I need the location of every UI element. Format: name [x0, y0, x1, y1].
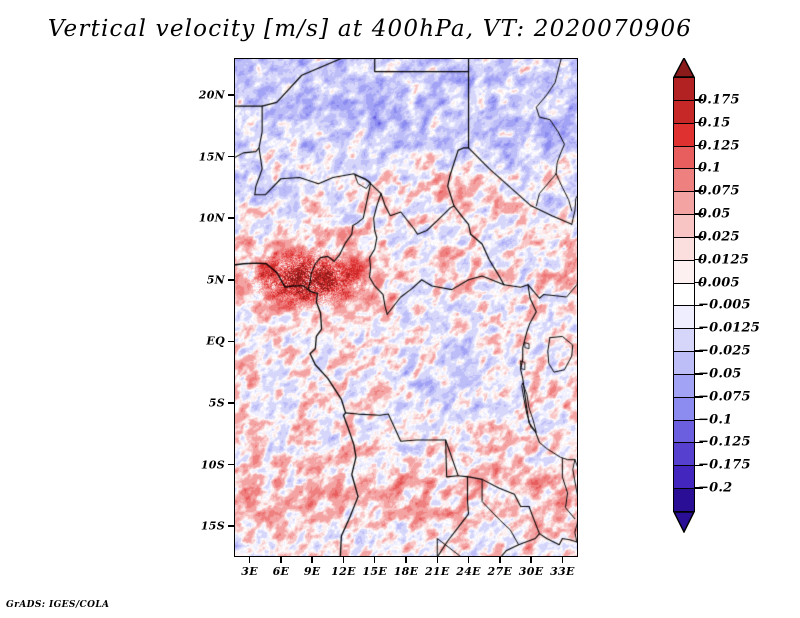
- longitude-tick-mark: [530, 557, 532, 563]
- colorbar-band: [673, 351, 695, 375]
- longitude-tick-mark: [311, 557, 313, 563]
- colorbar-band: [673, 305, 695, 329]
- colorbar-band: [673, 77, 695, 101]
- colorbar-tick-label: −0.125: [698, 435, 751, 450]
- colorbar-band: [673, 465, 695, 489]
- latitude-tick-label: 10N: [199, 212, 225, 225]
- longitude-tick-label: 27E: [488, 565, 513, 578]
- colorbar-band: [673, 146, 695, 170]
- colorbar-tick-label: −0.05: [698, 366, 742, 381]
- latitude-tick-label: 10S: [201, 458, 225, 471]
- latitude-tick-mark: [228, 402, 234, 404]
- longitude-tick-mark: [468, 557, 470, 563]
- colorbar-tick-label: 0.15: [698, 115, 730, 130]
- colorbar-max-arrow: [673, 58, 695, 78]
- longitude-tick-label: 30E: [519, 565, 544, 578]
- colorbar-tick-label: 0.0125: [698, 252, 749, 267]
- longitude-tick-mark: [374, 557, 376, 563]
- colorbar-band: [673, 420, 695, 444]
- colorbar-tick-label: 0.175: [698, 92, 740, 107]
- page-title: Vertical velocity [m/s] at 400hPa, VT: 2…: [0, 16, 740, 42]
- colorbar-band: [673, 237, 695, 261]
- colorbar-tick-label: −0.025: [698, 344, 751, 359]
- colorbar-band: [673, 488, 695, 512]
- latitude-tick-mark: [228, 217, 234, 219]
- colorbar-tick-label: 0.05: [698, 207, 730, 222]
- colorbar-tick-label: 0.125: [698, 138, 740, 153]
- colorbar-tick-label: 0.005: [698, 275, 740, 290]
- colorbar-tick-label: −0.075: [698, 389, 751, 404]
- latitude-tick-label: 5S: [209, 396, 225, 409]
- longitude-tick-label: 21E: [425, 565, 450, 578]
- colorbar-band: [673, 283, 695, 307]
- colorbar: [673, 77, 695, 511]
- colorbar-band: [673, 168, 695, 192]
- latitude-tick-mark: [228, 94, 234, 96]
- longitude-tick-mark: [499, 557, 501, 563]
- latitude-tick-label: 5N: [207, 273, 225, 286]
- colorbar-tick-label: 0.1: [698, 161, 721, 176]
- colorbar-tick-label: −0.175: [698, 458, 751, 473]
- colorbar-band: [673, 100, 695, 124]
- map-plot-area: [234, 58, 578, 557]
- longitude-tick-mark: [249, 557, 251, 563]
- longitude-tick-label: 12E: [331, 565, 356, 578]
- latitude-tick-label: EQ: [206, 335, 225, 348]
- longitude-tick-label: 18E: [394, 565, 419, 578]
- colorbar-tick-label: 0.075: [698, 184, 740, 199]
- latitude-tick-label: 15N: [199, 150, 225, 163]
- colorbar-band: [673, 214, 695, 238]
- latitude-tick-mark: [228, 525, 234, 527]
- colorbar-band: [673, 442, 695, 466]
- colorbar-band: [673, 397, 695, 421]
- colorbar-band: [673, 374, 695, 398]
- colorbar-tick-label: 0.025: [698, 229, 740, 244]
- colorbar-tick-label: −0.005: [698, 298, 751, 313]
- colorbar-band: [673, 191, 695, 215]
- colorbar-tick-label: −0.2: [698, 481, 732, 496]
- longitude-tick-mark: [280, 557, 282, 563]
- longitude-tick-label: 24E: [456, 565, 481, 578]
- longitude-tick-mark: [562, 557, 564, 563]
- colorbar-tick-label: −0.1: [698, 412, 732, 427]
- longitude-tick-mark: [343, 557, 345, 563]
- colorbar-min-arrow: [673, 511, 695, 531]
- latitude-tick-mark: [228, 341, 234, 343]
- latitude-tick-label: 20N: [199, 88, 225, 101]
- latitude-tick-mark: [228, 156, 234, 158]
- longitude-tick-mark: [437, 557, 439, 563]
- footer-credit: GrADS: IGES/COLA: [6, 600, 109, 610]
- colorbar-band: [673, 328, 695, 352]
- colorbar-band: [673, 123, 695, 147]
- latitude-tick-label: 15S: [201, 520, 225, 533]
- longitude-tick-label: 33E: [550, 565, 575, 578]
- longitude-tick-label: 9E: [304, 565, 321, 578]
- latitude-tick-mark: [228, 464, 234, 466]
- colorbar-band: [673, 260, 695, 284]
- latitude-tick-mark: [228, 279, 234, 281]
- longitude-tick-label: 15E: [362, 565, 387, 578]
- longitude-tick-label: 6E: [273, 565, 290, 578]
- longitude-tick-mark: [405, 557, 407, 563]
- longitude-tick-label: 3E: [241, 565, 258, 578]
- colorbar-tick-label: −0.0125: [698, 321, 760, 336]
- coastline-border-overlay: [234, 58, 578, 557]
